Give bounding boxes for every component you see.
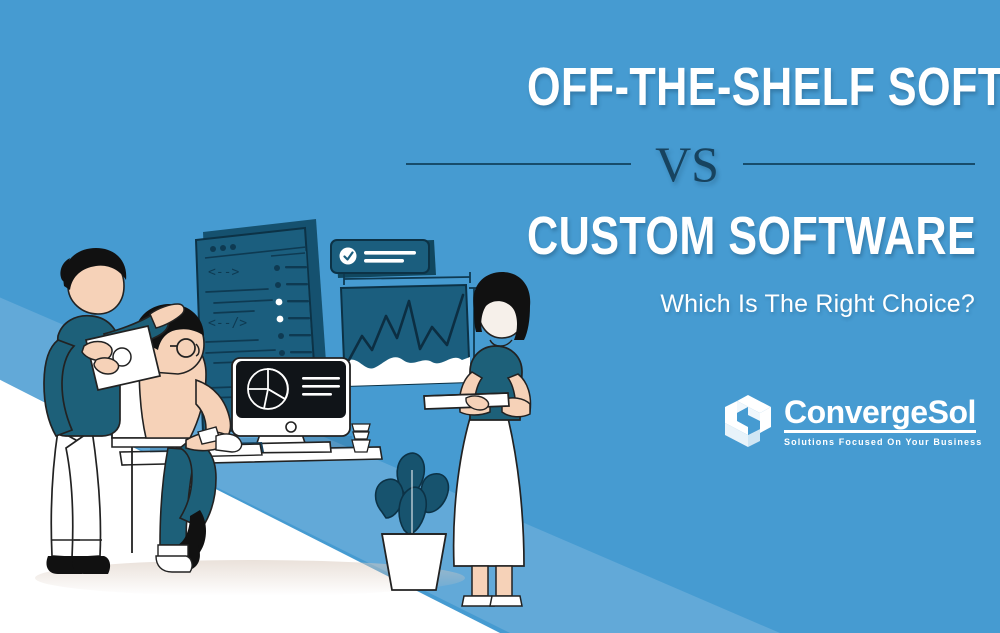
coffee-cup-stack	[352, 424, 370, 452]
convergesol-logo[interactable]: ConvergeSol Solutions Focused On Your Bu…	[722, 393, 989, 449]
headline-block: OFF-THE-SHELF SOFTWARE VS CUSTOM SOFTWAR…	[415, 60, 975, 319]
headline-subtitle: Which Is The Right Choice?	[415, 290, 975, 319]
headline-line-2: CUSTOM SOFTWARE	[527, 209, 975, 264]
vs-divider-line-left	[406, 163, 631, 165]
svg-text:<--/>: <--/>	[208, 316, 247, 331]
logo-text-block: ConvergeSol Solutions Focused On Your Bu…	[784, 396, 989, 447]
banner-root: --> <--> <--/>	[0, 0, 1000, 633]
vs-divider-line-right	[743, 163, 975, 165]
vs-label: VS	[653, 139, 721, 189]
headline-line-1: OFF-THE-SHELF SOFTWARE	[527, 60, 975, 115]
cube-s-logo-icon	[722, 393, 774, 449]
svg-text:<-->: <-->	[208, 265, 239, 280]
vs-divider-row: VS	[415, 139, 975, 189]
logo-name: ConvergeSol	[784, 396, 976, 433]
logo-tagline: Solutions Focused On Your Business	[784, 437, 982, 447]
